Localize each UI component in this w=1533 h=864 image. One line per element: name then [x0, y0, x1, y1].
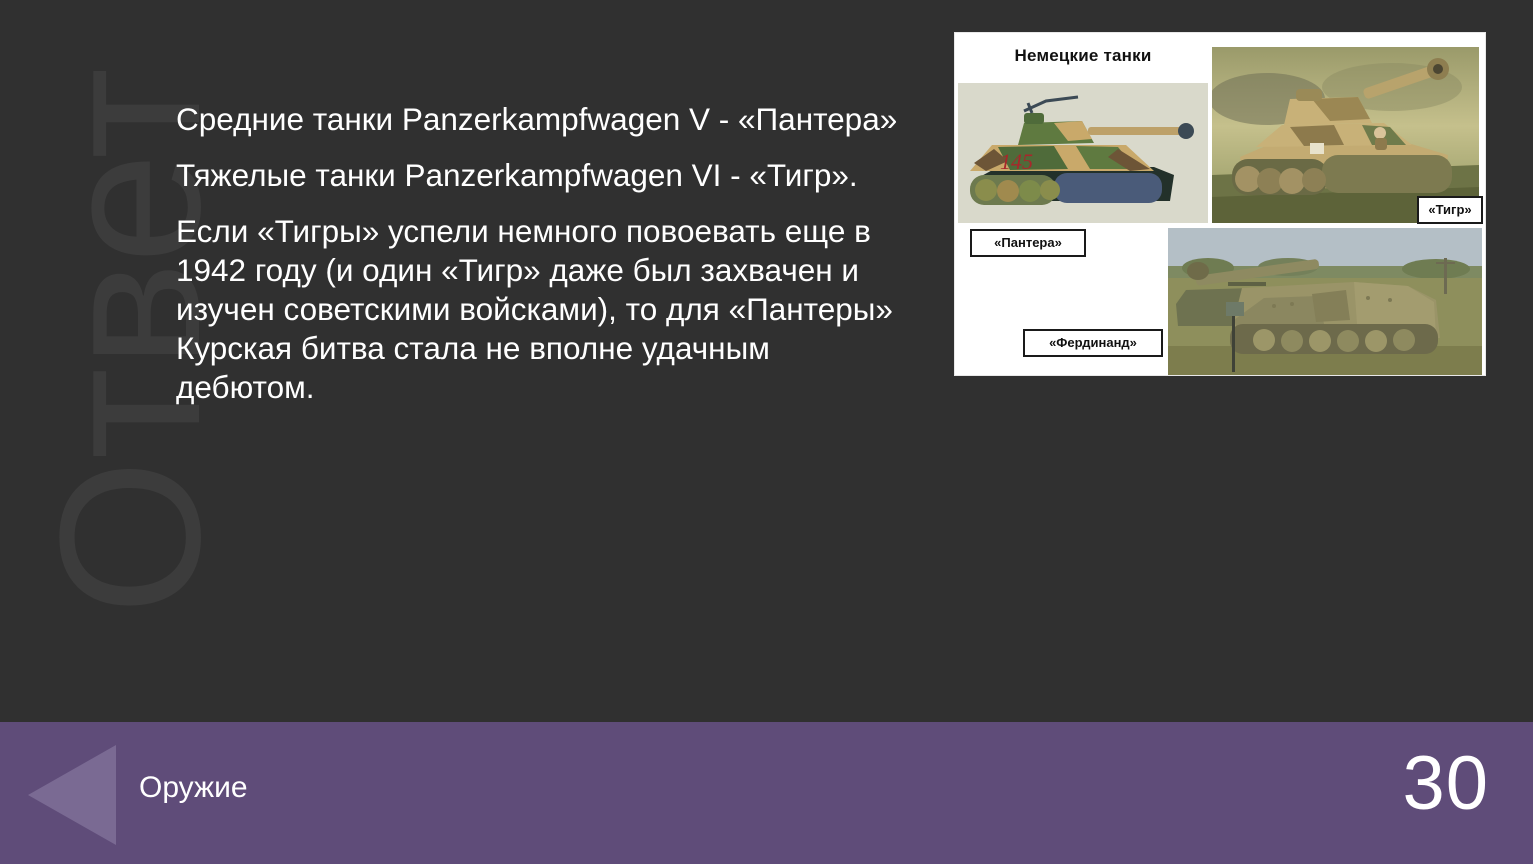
presentation-slide: Ответ Средние танки Panzerkampfwagen V -… — [0, 0, 1533, 864]
caption-tiger: «Тигр» — [1417, 196, 1483, 224]
panel-title: Немецкие танки — [955, 46, 1211, 66]
caption-ferdinand: «Фердинанд» — [1023, 329, 1163, 357]
panther-tank-drawing: 145 — [958, 83, 1208, 223]
panther-illustration: 145 — [958, 83, 1208, 223]
svg-text:145: 145 — [1000, 149, 1033, 174]
triangle-left-icon[interactable] — [28, 745, 116, 845]
category-label: Оружие — [139, 771, 248, 805]
german-tanks-image-panel: Немецкие танки — [955, 33, 1485, 375]
caption-panther: «Пантера» — [970, 229, 1086, 257]
answer-paragraph-2: Тяжелые танки Panzerkampfwagen VI - «Тиг… — [176, 156, 916, 195]
ferdinand-illustration — [1168, 228, 1482, 375]
answer-paragraph-1: Средние танки Panzerkampfwagen V - «Пант… — [176, 100, 916, 139]
ferdinand-tank-drawing — [1168, 228, 1482, 375]
answer-text-block: Средние танки Panzerkampfwagen V - «Пант… — [176, 100, 916, 407]
points-value: 30 — [1402, 746, 1489, 822]
answer-paragraph-3: Если «Тигры» успели немного повоевать ещ… — [176, 212, 916, 407]
